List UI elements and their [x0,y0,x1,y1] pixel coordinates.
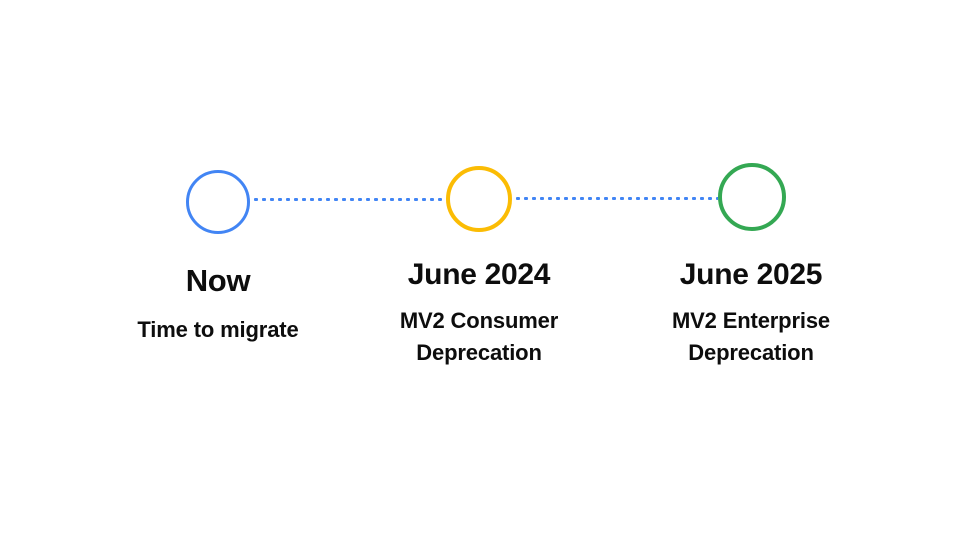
timeline-label-june-2025: June 2025 MV2 Enterprise Deprecation [622,258,880,369]
milestone-detail-line: Time to migrate [78,314,358,346]
timeline-node-june-2025 [718,163,786,231]
milestone-detail-line: MV2 Enterprise [622,305,880,337]
milestone-detail-line: MV2 Consumer [350,305,608,337]
timeline-diagram: Now Time to migrate June 2024 MV2 Consum… [0,0,960,540]
milestone-heading-june-2024: June 2024 [350,258,608,292]
milestone-detail-line: Deprecation [350,337,608,369]
timeline-label-june-2024: June 2024 MV2 Consumer Deprecation [350,258,608,369]
timeline-label-now: Now Time to migrate [78,264,358,346]
milestone-detail-line: Deprecation [622,337,880,369]
milestone-detail-now: Time to migrate [78,314,358,346]
milestone-detail-june-2024: MV2 Consumer Deprecation [350,305,608,369]
timeline-connector-now-to-june-2024 [252,198,444,201]
timeline-node-june-2024 [446,166,512,232]
timeline-connector-june-2024-to-june-2025 [514,197,718,200]
milestone-heading-now: Now [78,264,358,298]
milestone-detail-june-2025: MV2 Enterprise Deprecation [622,305,880,369]
timeline-node-now [186,170,250,234]
milestone-heading-june-2025: June 2025 [622,258,880,292]
